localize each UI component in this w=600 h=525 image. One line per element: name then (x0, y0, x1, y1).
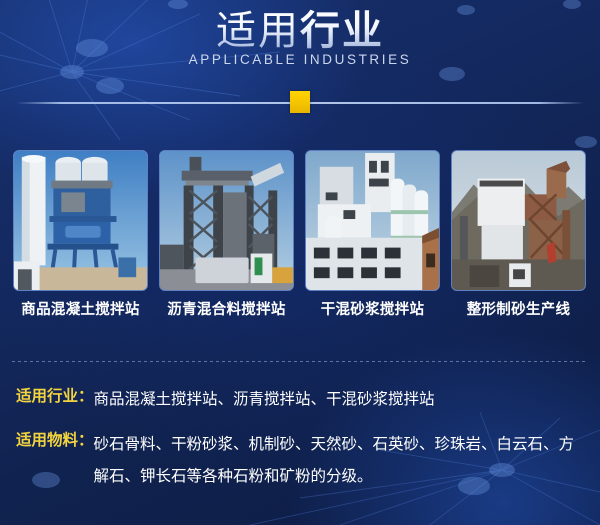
sand-shaping-production-line-photo (451, 150, 586, 291)
dry-mortar-mixing-plant-photo (305, 150, 440, 291)
info-block: 适用行业： 商品混凝土搅拌站、沥青搅拌站、干混砂浆搅拌站 适用物料： 砂石骨料、… (16, 385, 588, 507)
section-dashed-divider (12, 361, 588, 362)
concrete-mixing-plant-photo (13, 150, 148, 291)
industry-card[interactable]: 沥青混合料搅拌站 (159, 150, 294, 319)
industry-card[interactable]: 商品混凝土搅拌站 (13, 150, 148, 319)
industry-card-label: 沥青混合料搅拌站 (159, 298, 294, 319)
page-title: 适用行业 (0, 8, 600, 54)
info-value-industries: 商品混凝土搅拌站、沥青搅拌站、干混砂浆搅拌站 (94, 385, 588, 415)
page-root: 适用行业 APPLICABLE INDUSTRIES (0, 0, 600, 525)
industry-card-label: 整形制砂生产线 (451, 298, 586, 319)
industry-card-label: 干混砂浆搅拌站 (305, 298, 440, 319)
industry-card-label: 商品混凝土搅拌站 (13, 298, 148, 319)
industry-card-list: 商品混凝土搅拌站 (0, 150, 600, 325)
industry-card[interactable]: 整形制砂生产线 (451, 150, 586, 319)
info-row-materials: 适用物料： 砂石骨料、干粉砂浆、机制砂、天然砂、石英砂、珍珠岩、白云石、方解石、… (16, 429, 588, 493)
info-value-materials: 砂石骨料、干粉砂浆、机制砂、天然砂、石英砂、珍珠岩、白云石、方解石、钾长石等各种… (94, 429, 588, 493)
header: 适用行业 APPLICABLE INDUSTRIES (0, 0, 600, 96)
industry-card[interactable]: 干混砂浆搅拌站 (305, 150, 440, 319)
page-subtitle: APPLICABLE INDUSTRIES (0, 52, 600, 67)
gold-square-marker-icon (290, 91, 310, 113)
info-label-materials: 适用物料： (16, 429, 94, 453)
asphalt-mixing-plant-photo (159, 150, 294, 291)
page-title-light: 适用 (216, 9, 300, 53)
info-row-industries: 适用行业： 商品混凝土搅拌站、沥青搅拌站、干混砂浆搅拌站 (16, 385, 588, 415)
page-title-bold: 行业 (300, 9, 384, 53)
info-label-industries: 适用行业： (16, 385, 94, 409)
